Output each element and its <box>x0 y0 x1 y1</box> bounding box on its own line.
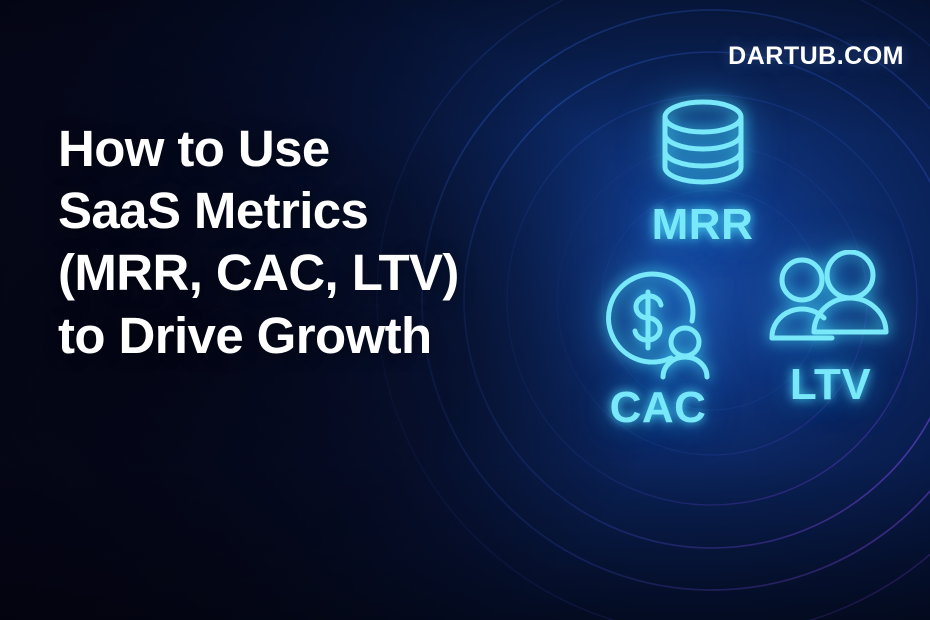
metric-cac: CAC <box>568 265 748 433</box>
metric-ltv: LTV <box>748 250 913 410</box>
poster-canvas: DARTUB.COM How to Use SaaS Metrics (MRR,… <box>0 0 930 620</box>
dollar-circle-person-icon <box>568 265 748 385</box>
two-people-icon <box>748 250 913 360</box>
metric-mrr: MRR <box>615 93 790 250</box>
database-stack-icon <box>615 93 790 198</box>
metric-cac-label: CAC <box>568 383 748 433</box>
metric-cluster: MRR <box>470 60 930 560</box>
metric-mrr-label: MRR <box>615 200 790 250</box>
page-title: How to Use SaaS Metrics (MRR, CAC, LTV) … <box>58 118 518 367</box>
metric-ltv-label: LTV <box>748 360 913 410</box>
